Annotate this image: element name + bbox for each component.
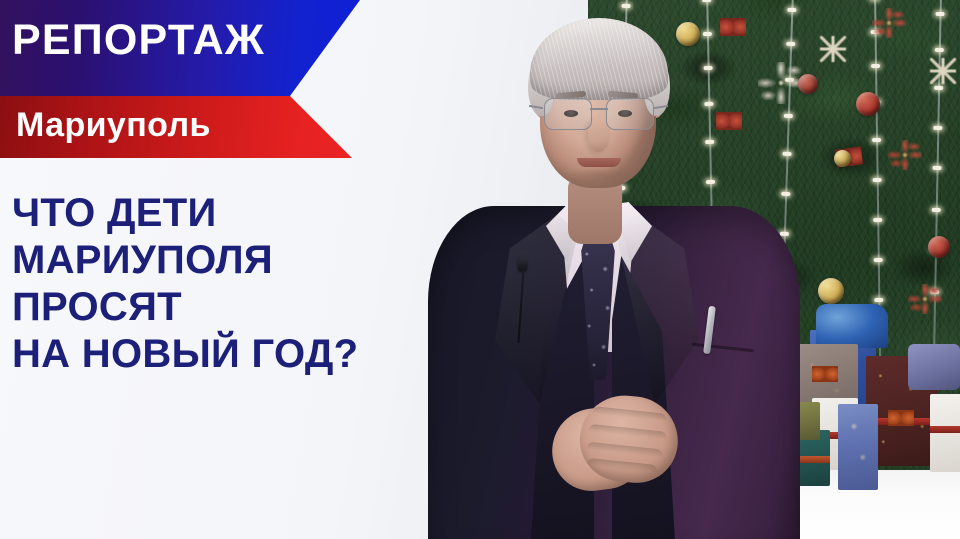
tree-ball-gold xyxy=(818,278,844,304)
eyeglass-lens-left xyxy=(544,98,592,130)
eyeglass-lens-right xyxy=(606,98,654,130)
tree-ball-gold xyxy=(834,150,851,167)
tree-snowflake-ornament xyxy=(820,36,846,62)
gift-box-white-red-ribbon xyxy=(930,394,960,472)
tree-poinsettia-red xyxy=(872,8,906,38)
tree-poinsettia-red xyxy=(908,284,942,314)
eyeglass-bridge xyxy=(590,108,608,110)
tree-ball-red xyxy=(928,236,950,258)
tree-ball-red xyxy=(856,92,880,116)
hair xyxy=(530,18,668,100)
program-badge-primary-label: РЕПОРТАЖ xyxy=(12,19,265,62)
headline-line-3: ПРОСЯТ xyxy=(12,284,442,331)
clasped-hands xyxy=(550,392,684,504)
headline-line-4: НА НОВЫЙ ГОД? xyxy=(12,331,442,378)
gift-box-blue-floral-tall xyxy=(838,404,878,490)
gift-box-shiny-blue xyxy=(816,304,888,348)
video-thumbnail: РЕПОРТАЖ Мариуполь ЧТО ДЕТИ МАРИУПОЛЯ ПР… xyxy=(0,0,960,539)
presenter xyxy=(400,6,820,539)
nose xyxy=(588,118,610,152)
mouth xyxy=(577,158,621,167)
program-badge-secondary-label: Мариуполь xyxy=(16,108,211,142)
tree-snowflake-ornament xyxy=(930,58,956,84)
chin-shadow xyxy=(566,170,632,184)
gift-box-gold-ring xyxy=(908,344,960,390)
headline-line-2: МАРИУПОЛЯ xyxy=(12,237,442,284)
headline: ЧТО ДЕТИ МАРИУПОЛЯ ПРОСЯТ НА НОВЫЙ ГОД? xyxy=(12,190,442,378)
tree-poinsettia-red xyxy=(888,140,922,170)
headline-line-1: ЧТО ДЕТИ xyxy=(12,190,442,237)
